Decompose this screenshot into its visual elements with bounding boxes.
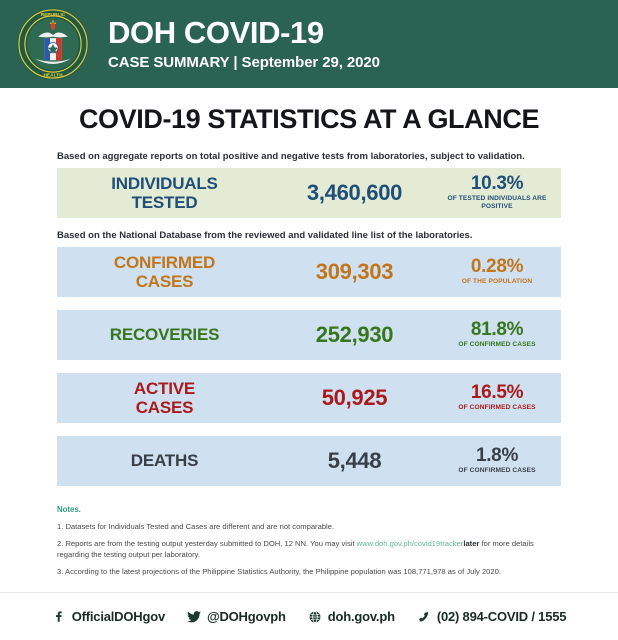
stat-value-recoveries: 252,930	[272, 322, 437, 348]
stat-percent-sub-individuals-tested: OF TESTED INDIVIDUALS ARE POSITIVE	[437, 195, 557, 211]
stat-percent-block-recoveries: 81.8% OF CONFIRMED CASES	[437, 320, 561, 349]
stat-percent-sub-deaths: OF CONFIRMED CASES	[437, 467, 557, 475]
footer-facebook[interactable]: OfficialDOHgov	[52, 609, 165, 624]
note-2-later-emphasis: later	[463, 539, 479, 548]
header-title: DOH COVID-19	[108, 17, 380, 50]
stat-row-active-cases: ACTIVE CASES 50,925 16.5% OF CONFIRMED C…	[57, 373, 561, 423]
stat-percent-sub-line2: POSITIVE	[437, 203, 557, 211]
notes-heading: Notes.	[57, 504, 561, 515]
stat-label-line1: INDIVIDUALS	[57, 174, 272, 193]
stat-label-line2: CASES	[57, 272, 272, 291]
stat-label-line1: CONFIRMED	[57, 253, 272, 272]
basis-note-tested: Based on aggregate reports on total posi…	[57, 151, 618, 162]
footer-twitter-label: @DOHgovph	[207, 609, 286, 624]
header-subtitle: CASE SUMMARY | September 29, 2020	[108, 54, 380, 71]
stat-label-deaths: DEATHS	[57, 451, 272, 470]
header-bar: REPUBLIC HEALTH DOH COVID-19 CASE SUMMAR…	[0, 0, 618, 88]
basis-note-cases: Based on the National Database from the …	[57, 230, 618, 241]
stat-row-recoveries: RECOVERIES 252,930 81.8% OF CONFIRMED CA…	[57, 310, 561, 360]
stat-percent-block-individuals-tested: 10.3% OF TESTED INDIVIDUALS ARE POSITIVE	[437, 174, 561, 211]
doh-covid-case-summary-infographic: REPUBLIC HEALTH DOH COVID-19 CASE SUMMAR…	[0, 0, 618, 640]
doh-seal-logo: REPUBLIC HEALTH	[16, 7, 90, 81]
stat-value-active-cases: 50,925	[272, 385, 437, 411]
stat-percent-sub-confirmed-cases: OF THE POPULATION	[437, 278, 557, 286]
svg-text:REPUBLIC: REPUBLIC	[41, 12, 66, 18]
stat-percent-block-active-cases: 16.5% OF CONFIRMED CASES	[437, 383, 561, 412]
stat-value-confirmed-cases: 309,303	[272, 259, 437, 285]
stat-percent-recoveries: 81.8%	[437, 320, 557, 340]
notes-section: Notes. 1. Datasets for Individuals Teste…	[57, 504, 561, 577]
footer-twitter[interactable]: @DOHgovph	[187, 609, 286, 624]
note-2-text-part1: 2. Reports are from the testing output y…	[57, 539, 357, 548]
twitter-bird-icon	[187, 610, 201, 624]
footer-hotline[interactable]: (02) 894-COVID / 1555	[417, 609, 566, 624]
stat-percent-sub-recoveries: OF CONFIRMED CASES	[437, 341, 557, 349]
stat-label-individuals-tested: INDIVIDUALS TESTED	[57, 174, 272, 212]
stat-row-individuals-tested: INDIVIDUALS TESTED 3,460,600 10.3% OF TE…	[57, 168, 561, 218]
header-text-block: DOH COVID-19 CASE SUMMARY | September 29…	[108, 17, 380, 72]
phone-icon	[417, 610, 431, 624]
stat-percent-confirmed-cases: 0.28%	[437, 257, 557, 277]
stat-percent-individuals-tested: 10.3%	[437, 174, 557, 194]
globe-icon	[308, 610, 322, 624]
footer-hotline-label: (02) 894-COVID / 1555	[437, 609, 566, 624]
svg-text:HEALTH: HEALTH	[43, 73, 63, 79]
stat-label-line2: CASES	[57, 398, 272, 417]
footer-facebook-label: OfficialDOHgov	[72, 609, 165, 624]
stat-label-active-cases: ACTIVE CASES	[57, 379, 272, 417]
stat-row-confirmed-cases: CONFIRMED CASES 309,303 0.28% OF THE POP…	[57, 247, 561, 297]
page-title: COVID-19 STATISTICS AT A GLANCE	[0, 104, 618, 135]
note-item-1: 1. Datasets for Individuals Tested and C…	[57, 521, 561, 532]
stat-percent-active-cases: 16.5%	[437, 383, 557, 403]
stat-value-individuals-tested: 3,460,600	[272, 180, 437, 206]
stat-row-deaths: DEATHS 5,448 1.8% OF CONFIRMED CASES	[57, 436, 561, 486]
stat-percent-sub-active-cases: OF CONFIRMED CASES	[437, 404, 557, 412]
stat-label-recoveries: RECOVERIES	[57, 325, 272, 344]
stat-value-deaths: 5,448	[272, 448, 437, 474]
stat-percent-sub-line1: OF TESTED INDIVIDUALS ARE	[437, 195, 557, 203]
stat-percent-block-deaths: 1.8% OF CONFIRMED CASES	[437, 446, 561, 475]
facebook-icon	[52, 610, 66, 624]
covid19tracker-link[interactable]: www.doh.gov.ph/covid19tracker	[357, 539, 464, 548]
footer-website-label: doh.gov.ph	[328, 609, 395, 624]
note-item-3: 3. According to the latest projections o…	[57, 566, 561, 577]
stat-percent-deaths: 1.8%	[437, 446, 557, 466]
stat-label-line2: TESTED	[57, 193, 272, 212]
footer-website[interactable]: doh.gov.ph	[308, 609, 395, 624]
stat-percent-block-confirmed-cases: 0.28% OF THE POPULATION	[437, 257, 561, 286]
footer-bar: OfficialDOHgov @DOHgovph doh.gov.ph	[0, 592, 618, 640]
note-item-2: 2. Reports are from the testing output y…	[57, 538, 561, 560]
stat-label-confirmed-cases: CONFIRMED CASES	[57, 253, 272, 291]
stat-label-line1: ACTIVE	[57, 379, 272, 398]
